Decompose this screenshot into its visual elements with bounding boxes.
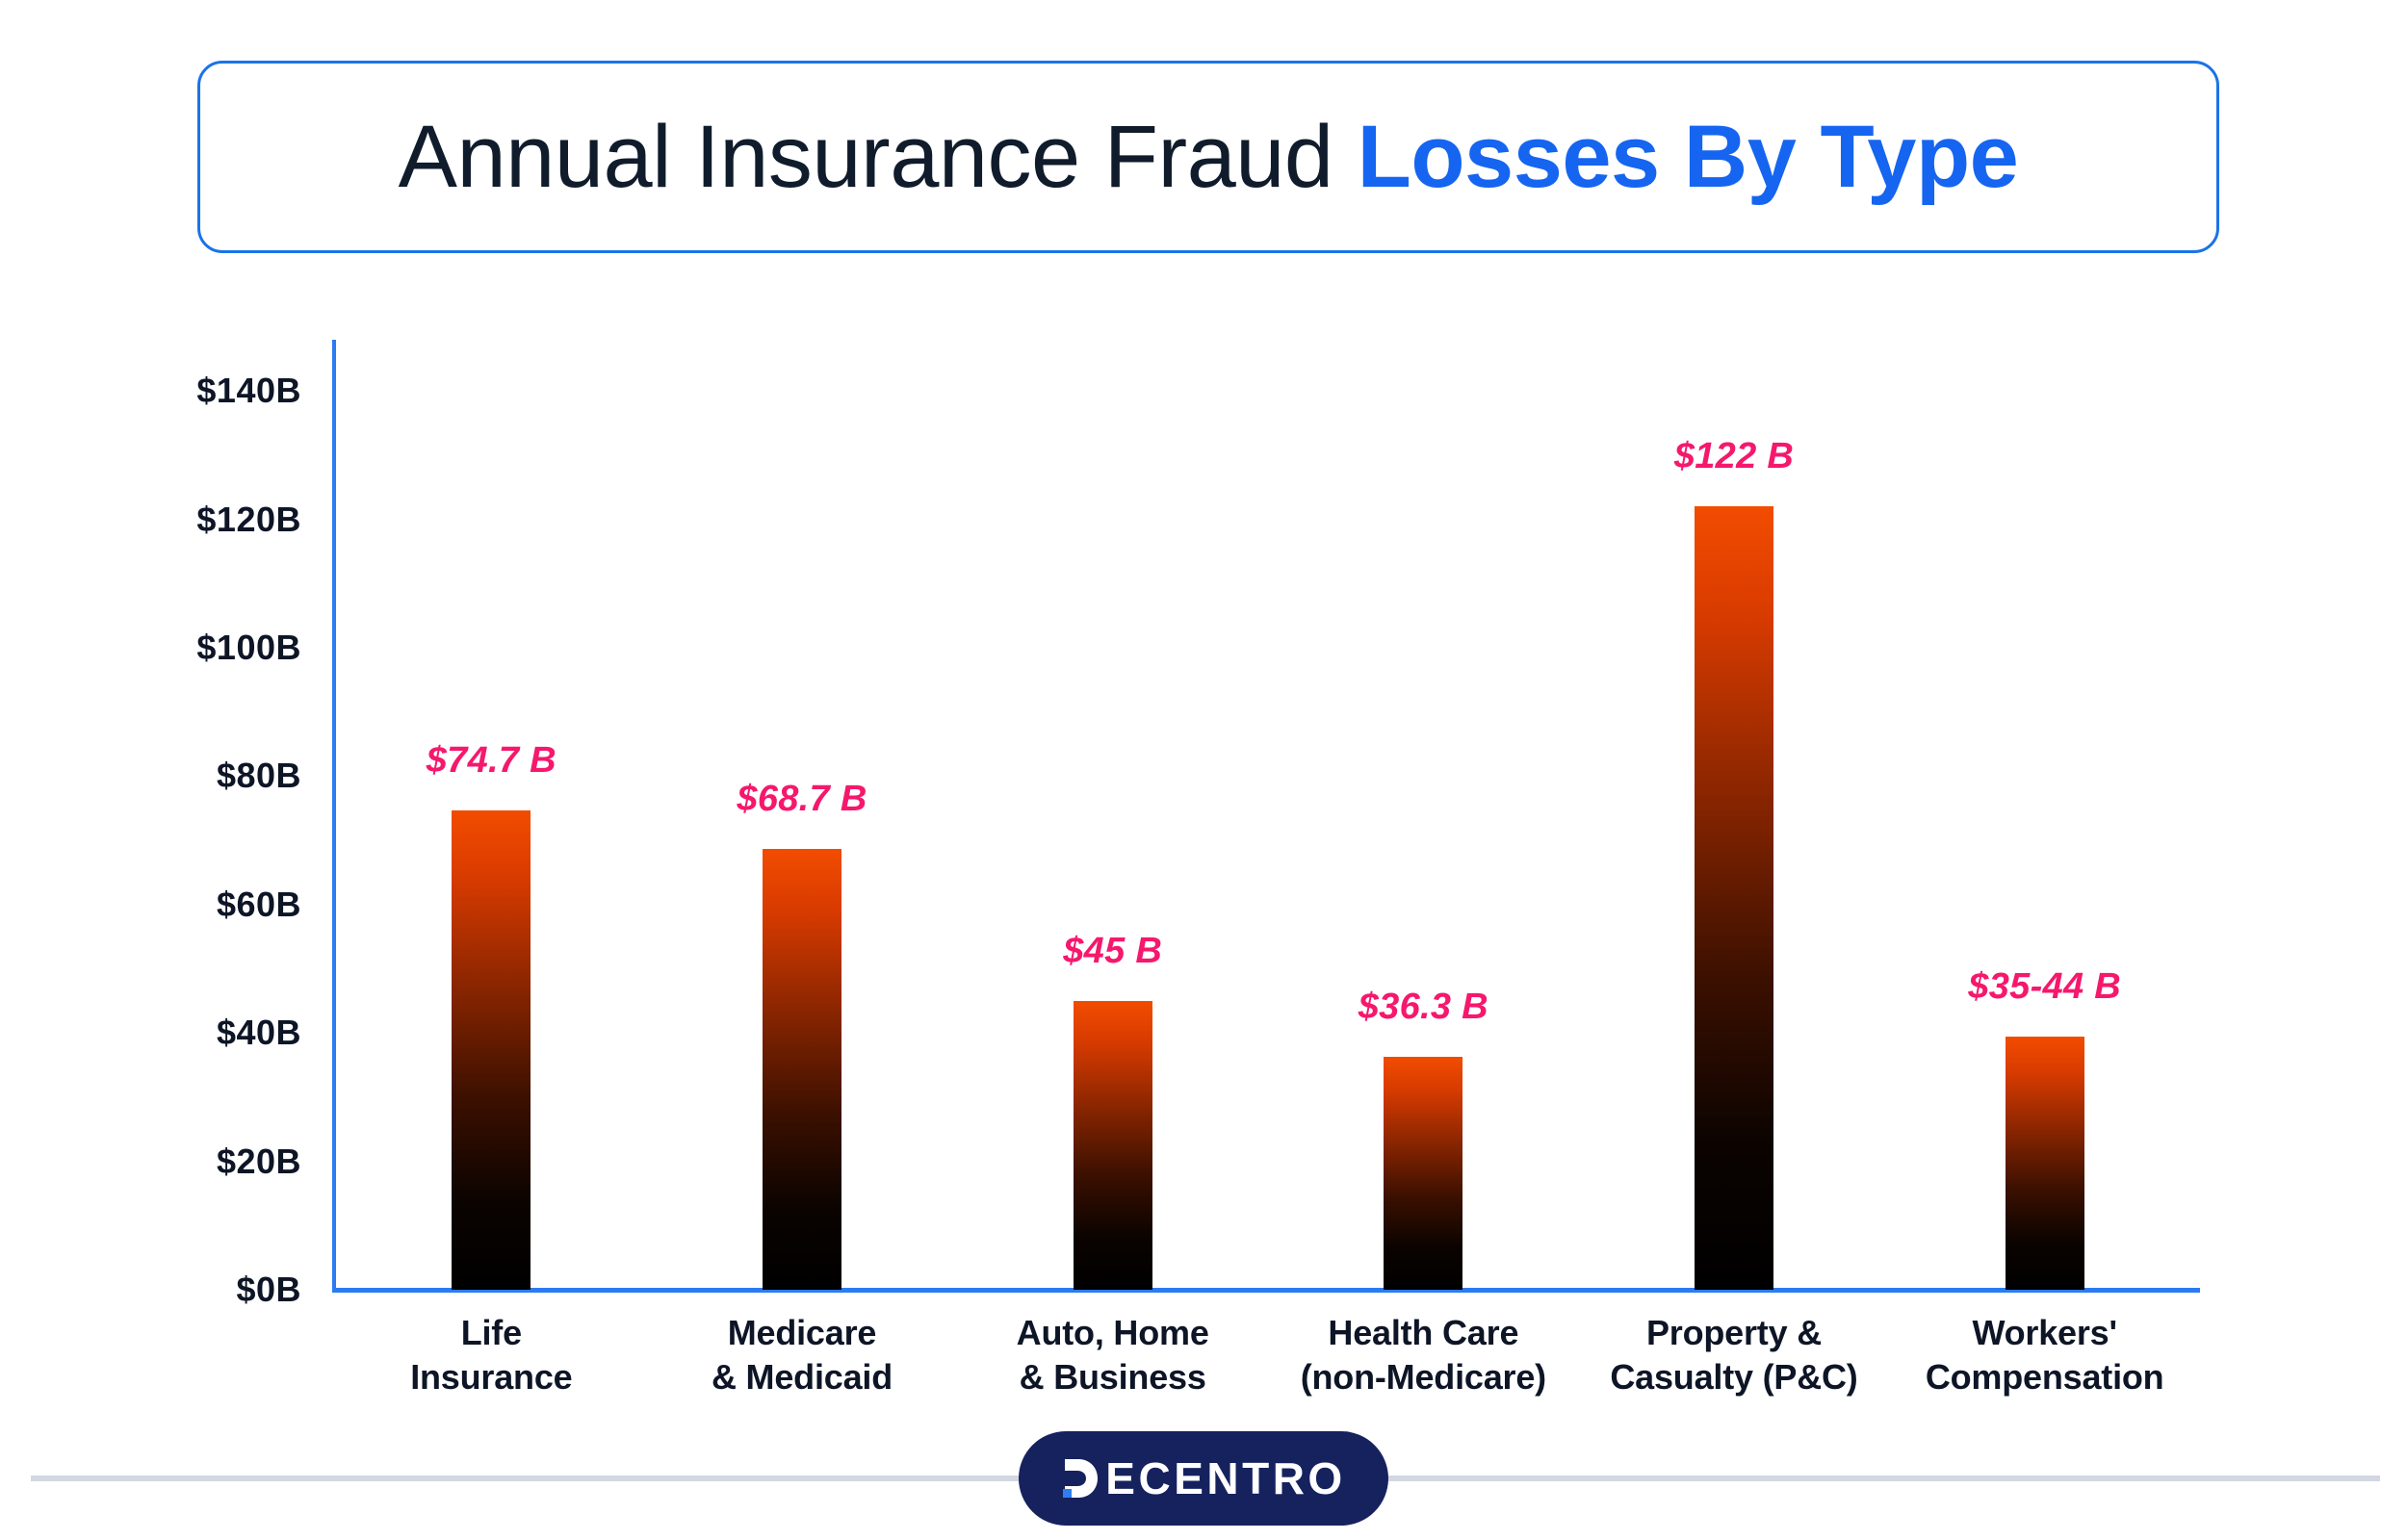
bar-1[interactable] (452, 810, 531, 1290)
y-axis-tick-labels: $140B$120B$100B$80B$60B$40B$20B$0B (144, 289, 323, 1295)
category-label-line1: Medicare (647, 1311, 958, 1355)
infographic-page: Annual Insurance Fraud Losses By Type $1… (0, 0, 2407, 1540)
y-axis-tick-0: $0B (236, 1270, 301, 1310)
y-axis-tick-120: $120B (196, 500, 301, 540)
bar-4[interactable] (1384, 1057, 1462, 1290)
bar-6[interactable] (2006, 1037, 2084, 1290)
category-label-5: Property &Casualty (P&C) (1579, 1311, 1890, 1399)
y-axis-tick-80: $80B (217, 756, 301, 796)
category-label-2: Medicare& Medicaid (647, 1311, 958, 1399)
decentro-logo: ECENTRO (1019, 1431, 1388, 1526)
bar-value-label: $36.3 B (1359, 987, 1488, 1028)
category-label-line2: Casualty (P&C) (1579, 1355, 1890, 1399)
bar-value-label: $122 B (1674, 436, 1794, 477)
y-axis-tick-100: $100B (196, 628, 301, 668)
x-axis-category-labels: LifeInsuranceMedicare& MedicaidAuto, Hom… (336, 1311, 2200, 1426)
bar-chart: $140B$120B$100B$80B$60B$40B$20B$0B $74.7… (0, 289, 2407, 1424)
category-label-line1: Auto, Home (957, 1311, 1268, 1355)
bar-value-label: $68.7 B (737, 779, 867, 820)
category-label-line1: Life (336, 1311, 647, 1355)
category-label-line2: (non-Medicare) (1268, 1355, 1579, 1399)
category-label-line2: Insurance (336, 1355, 647, 1399)
y-axis-tick-60: $60B (217, 885, 301, 925)
bar-value-label: $45 B (1063, 931, 1162, 972)
category-label-line2: Compensation (1889, 1355, 2200, 1399)
decentro-wordmark: ECENTRO (1105, 1452, 1345, 1504)
y-axis-tick-140: $140B (196, 371, 301, 411)
bar-slot: $122 B (1579, 340, 1890, 1290)
category-label-line1: Workers' (1889, 1311, 2200, 1355)
bar-2[interactable] (763, 849, 841, 1290)
bar-5[interactable] (1695, 506, 1773, 1290)
plot-area: $74.7 B$68.7 B$45 B$36.3 B$122 B$35-44 B (336, 340, 2200, 1290)
bar-value-label: $35-44 B (1968, 966, 2121, 1008)
title-card: Annual Insurance Fraud Losses By Type (197, 61, 2219, 253)
bar-slot: $74.7 B (336, 340, 647, 1290)
page-title: Annual Insurance Fraud Losses By Type (399, 111, 2019, 204)
title-plain-part: Annual Insurance Fraud (399, 108, 1358, 206)
category-label-line1: Property & (1579, 1311, 1890, 1355)
bar-slot: $68.7 B (647, 340, 958, 1290)
bar-slot: $35-44 B (1889, 340, 2200, 1290)
category-label-1: LifeInsurance (336, 1311, 647, 1399)
bar-value-label: $74.7 B (427, 740, 556, 782)
bar-3[interactable] (1074, 1001, 1152, 1290)
category-label-line1: Health Care (1268, 1311, 1579, 1355)
bar-slot: $36.3 B (1268, 340, 1579, 1290)
y-axis-tick-40: $40B (217, 1013, 301, 1053)
category-label-4: Health Care(non-Medicare) (1268, 1311, 1579, 1399)
title-accent-part: Losses By Type (1358, 108, 2019, 206)
category-label-line2: & Business (957, 1355, 1268, 1399)
category-label-3: Auto, Home& Business (957, 1311, 1268, 1399)
decentro-d-mark-icon (1061, 1457, 1100, 1500)
y-axis-tick-20: $20B (217, 1142, 301, 1182)
category-label-6: Workers'Compensation (1889, 1311, 2200, 1399)
bar-slot: $45 B (957, 340, 1268, 1290)
category-label-line2: & Medicaid (647, 1355, 958, 1399)
